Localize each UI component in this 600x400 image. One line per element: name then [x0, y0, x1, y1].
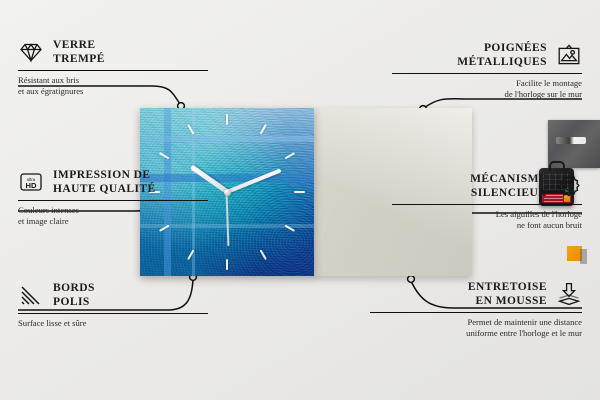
callout-description: Surface lisse et sûre — [18, 318, 208, 329]
callout-desc-line2: et aux égratignures — [18, 86, 83, 96]
callout-desc-line1: Facilite le montage — [516, 78, 582, 88]
callout-title-line2: EN MOUSSE — [476, 295, 547, 307]
callout-title: BORDS POLIS — [53, 281, 95, 310]
callout-header: VERRE TREMPÉ — [18, 38, 208, 67]
callout-title-line2: POLIS — [53, 296, 90, 308]
callout-desc-line2: et image claire — [18, 216, 69, 226]
callout-description: Résistant aux bris et aux égratignures — [18, 75, 208, 97]
tick-12 — [226, 114, 228, 125]
callout-desc-line2: ne font aucun bruit — [517, 220, 582, 230]
polished-edges-icon — [18, 282, 44, 308]
tick-11 — [187, 124, 194, 135]
callout-description: Couleurs intenses et image claire — [18, 205, 208, 227]
tick-6 — [226, 259, 228, 270]
callout-title-line2: HAUTE QUALITÉ — [53, 183, 156, 195]
callout-desc-line1: Permet de maintenir une distance — [467, 317, 582, 327]
callout-mecanisme-silencieux: MÉCANISME SILENCIEUX Les aiguilles de l'… — [392, 172, 582, 231]
callout-divider — [370, 312, 582, 314]
callout-header: BORDS POLIS — [18, 281, 208, 310]
hanger-slot — [556, 137, 586, 144]
tick-1 — [260, 124, 267, 135]
ultra-hd-icon: ultra HD — [18, 169, 44, 195]
gear-icon — [556, 173, 582, 199]
callout-impression-haute-qualite: ultra HD IMPRESSION DE HAUTE QUALITÉ Cou… — [18, 168, 208, 227]
callout-divider — [18, 200, 208, 202]
callout-header: POIGNÉES MÉTALLIQUES — [392, 41, 582, 70]
foam-spacer — [567, 246, 582, 261]
callout-title-line1: IMPRESSION DE — [53, 169, 151, 181]
callout-description: Les aiguilles de l'horloge ne font aucun… — [392, 209, 582, 231]
mechanism-hanging-loop — [549, 161, 565, 171]
callout-poignees-metalliques: POIGNÉES MÉTALLIQUES Facilite le montage… — [392, 41, 582, 100]
callout-title: MÉCANISME SILENCIEUX — [470, 172, 547, 201]
callout-bords-polis: BORDS POLIS Surface lisse et sûre — [18, 281, 208, 329]
callout-title-line1: BORDS — [53, 282, 95, 294]
tick-7 — [187, 250, 194, 261]
callout-desc-line1: Les aiguilles de l'horloge — [496, 209, 582, 219]
tick-5 — [260, 250, 267, 261]
callout-title: IMPRESSION DE HAUTE QUALITÉ — [53, 168, 156, 197]
tick-10 — [159, 152, 170, 159]
callout-divider — [18, 313, 208, 315]
callout-header: ultra HD IMPRESSION DE HAUTE QUALITÉ — [18, 168, 208, 197]
tick-2 — [285, 152, 296, 159]
callout-title-line1: MÉCANISME — [470, 173, 547, 185]
picture-hanger-icon — [556, 42, 582, 68]
callout-desc-line1: Résistant aux bris — [18, 75, 79, 85]
callout-title: POIGNÉES MÉTALLIQUES — [457, 41, 547, 70]
callout-desc-line1: Surface lisse et sûre — [18, 318, 87, 328]
diamond-icon — [18, 39, 44, 65]
callout-title-line2: TREMPÉ — [53, 53, 105, 65]
callout-divider — [392, 204, 582, 206]
callout-entretoise-en-mousse: ENTRETOISE EN MOUSSE Permet de maintenir… — [370, 280, 582, 339]
svg-text:HD: HD — [26, 181, 37, 190]
callout-header: MÉCANISME SILENCIEUX — [392, 172, 582, 201]
callout-title-line1: ENTRETOISE — [468, 281, 547, 293]
callout-desc-line2: de l'horloge sur le mur — [505, 89, 582, 99]
foam-spacer-icon — [556, 281, 582, 307]
tick-4 — [285, 225, 296, 232]
callout-desc-line1: Couleurs intenses — [18, 205, 79, 215]
callout-title: VERRE TREMPÉ — [53, 38, 105, 67]
tick-3 — [294, 191, 305, 193]
clock-center-cap — [224, 189, 231, 196]
callout-title-line2: SILENCIEUX — [471, 187, 547, 199]
callout-title-line1: POIGNÉES — [484, 42, 547, 54]
callout-description: Facilite le montage de l'horloge sur le … — [392, 78, 582, 100]
callout-verre-trempe: VERRE TREMPÉ Résistant aux bris et aux é… — [18, 38, 208, 97]
callout-header: ENTRETOISE EN MOUSSE — [370, 280, 582, 309]
callout-divider — [18, 70, 208, 72]
callout-title-line1: VERRE — [53, 39, 96, 51]
callout-description: Permet de maintenir une distance uniform… — [370, 317, 582, 339]
callout-desc-line2: uniforme entre l'horloge et le mur — [466, 328, 582, 338]
callout-title-line2: MÉTALLIQUES — [457, 56, 547, 68]
infographic-canvas: VERRE TREMPÉ Résistant aux bris et aux é… — [0, 0, 600, 400]
callout-divider — [392, 73, 582, 75]
callout-title: ENTRETOISE EN MOUSSE — [468, 280, 547, 309]
